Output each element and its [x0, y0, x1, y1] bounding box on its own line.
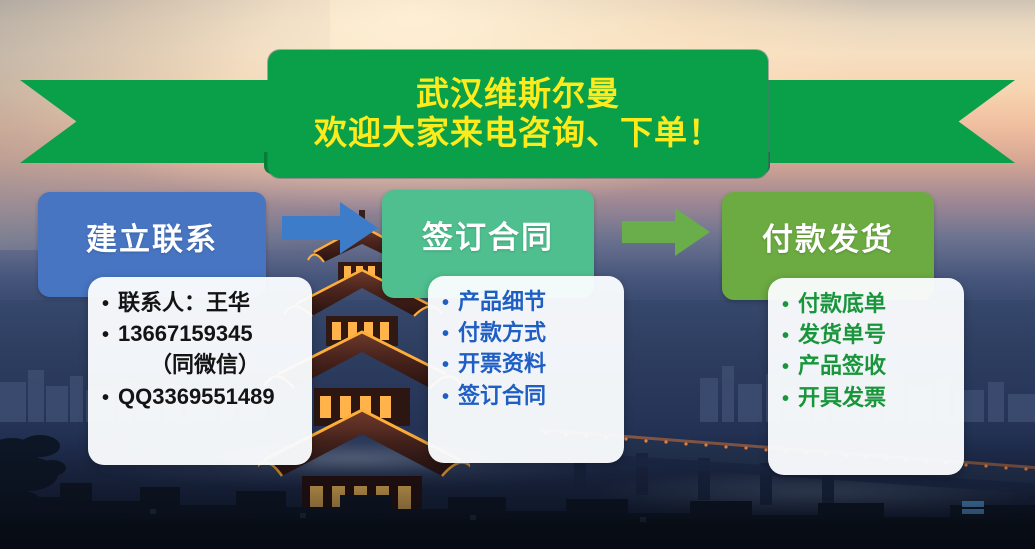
bullet-dot-icon: • — [442, 387, 449, 407]
step3-bullet-list: • 付款底单 • 发货单号 • 产品签收 • 开具发票 — [782, 288, 950, 413]
step2-bullet-1-text: 付款方式 — [458, 317, 546, 348]
step2-bullet-3-text: 签订合同 — [458, 380, 546, 411]
banner-title-line1: 武汉维斯尔曼 — [416, 75, 620, 114]
step3-bullet-3-text: 开具发票 — [798, 382, 886, 413]
list-item: • 开具发票 — [782, 382, 950, 413]
ribbon-center-panel: 武汉维斯尔曼 欢迎大家来电咨询、下单！ — [268, 50, 768, 178]
step1-wechat-note: （同微信） — [102, 349, 298, 380]
list-item: • 付款方式 — [442, 317, 610, 348]
bullet-dot-icon: • — [782, 326, 789, 346]
poster-canvas: 武汉维斯尔曼 欢迎大家来电咨询、下单！ 建立联系 • 联系人：王华 • 1366… — [0, 0, 1035, 549]
step2-header-label: 签订合同 — [422, 212, 554, 257]
step1-bullet-1-text: 13667159345 — [118, 318, 253, 349]
step1-bullet-list: • 联系人：王华 • 13667159345 — [102, 287, 298, 349]
bullet-dot-icon: • — [442, 293, 449, 313]
list-item: • QQ3369551489 — [102, 381, 298, 412]
step1-detail-card: • 联系人：王华 • 13667159345 （同微信） • QQ3369551… — [88, 277, 312, 465]
step3-header-label: 付款发货 — [762, 214, 894, 259]
step2-bullet-list: • 产品细节 • 付款方式 • 开票资料 • 签订合同 — [442, 286, 610, 411]
list-item: • 签订合同 — [442, 380, 610, 411]
list-item: • 联系人：王华 — [102, 287, 298, 318]
arrow-step1-to-step2-icon — [282, 202, 378, 254]
bullet-dot-icon: • — [782, 295, 789, 315]
bullet-dot-icon: • — [102, 388, 109, 408]
step1-bullet-0-text: 联系人：王华 — [118, 287, 250, 318]
step1-header-label: 建立联系 — [86, 214, 218, 259]
list-item: • 发货单号 — [782, 319, 950, 350]
list-item: • 产品细节 — [442, 286, 610, 317]
banner-title-line2: 欢迎大家来电咨询、下单！ — [314, 114, 722, 153]
bullet-dot-icon: • — [782, 357, 789, 377]
list-item: • 产品签收 — [782, 350, 950, 381]
step1-bullet-list-2: • QQ3369551489 — [102, 381, 298, 412]
step2-bullet-2-text: 开票资料 — [458, 348, 546, 379]
bullet-dot-icon: • — [442, 324, 449, 344]
step3-bullet-1-text: 发货单号 — [798, 319, 886, 350]
step3-bullet-2-text: 产品签收 — [798, 350, 886, 381]
bullet-dot-icon: • — [102, 294, 109, 314]
bullet-dot-icon: • — [782, 389, 789, 409]
bullet-dot-icon: • — [102, 325, 109, 345]
list-item: • 开票资料 — [442, 348, 610, 379]
ribbon-banner: 武汉维斯尔曼 欢迎大家来电咨询、下单！ — [0, 36, 1035, 186]
list-item: • 付款底单 — [782, 288, 950, 319]
step2-bullet-0-text: 产品细节 — [458, 286, 546, 317]
step3-bullet-0-text: 付款底单 — [798, 288, 886, 319]
list-item: • 13667159345 — [102, 318, 298, 349]
step1-bullet-2-text: QQ3369551489 — [118, 381, 275, 412]
arrow-step2-to-step3-icon — [622, 208, 710, 256]
step2-detail-card: • 产品细节 • 付款方式 • 开票资料 • 签订合同 — [428, 276, 624, 463]
bullet-dot-icon: • — [442, 355, 449, 375]
step3-detail-card: • 付款底单 • 发货单号 • 产品签收 • 开具发票 — [768, 278, 964, 475]
